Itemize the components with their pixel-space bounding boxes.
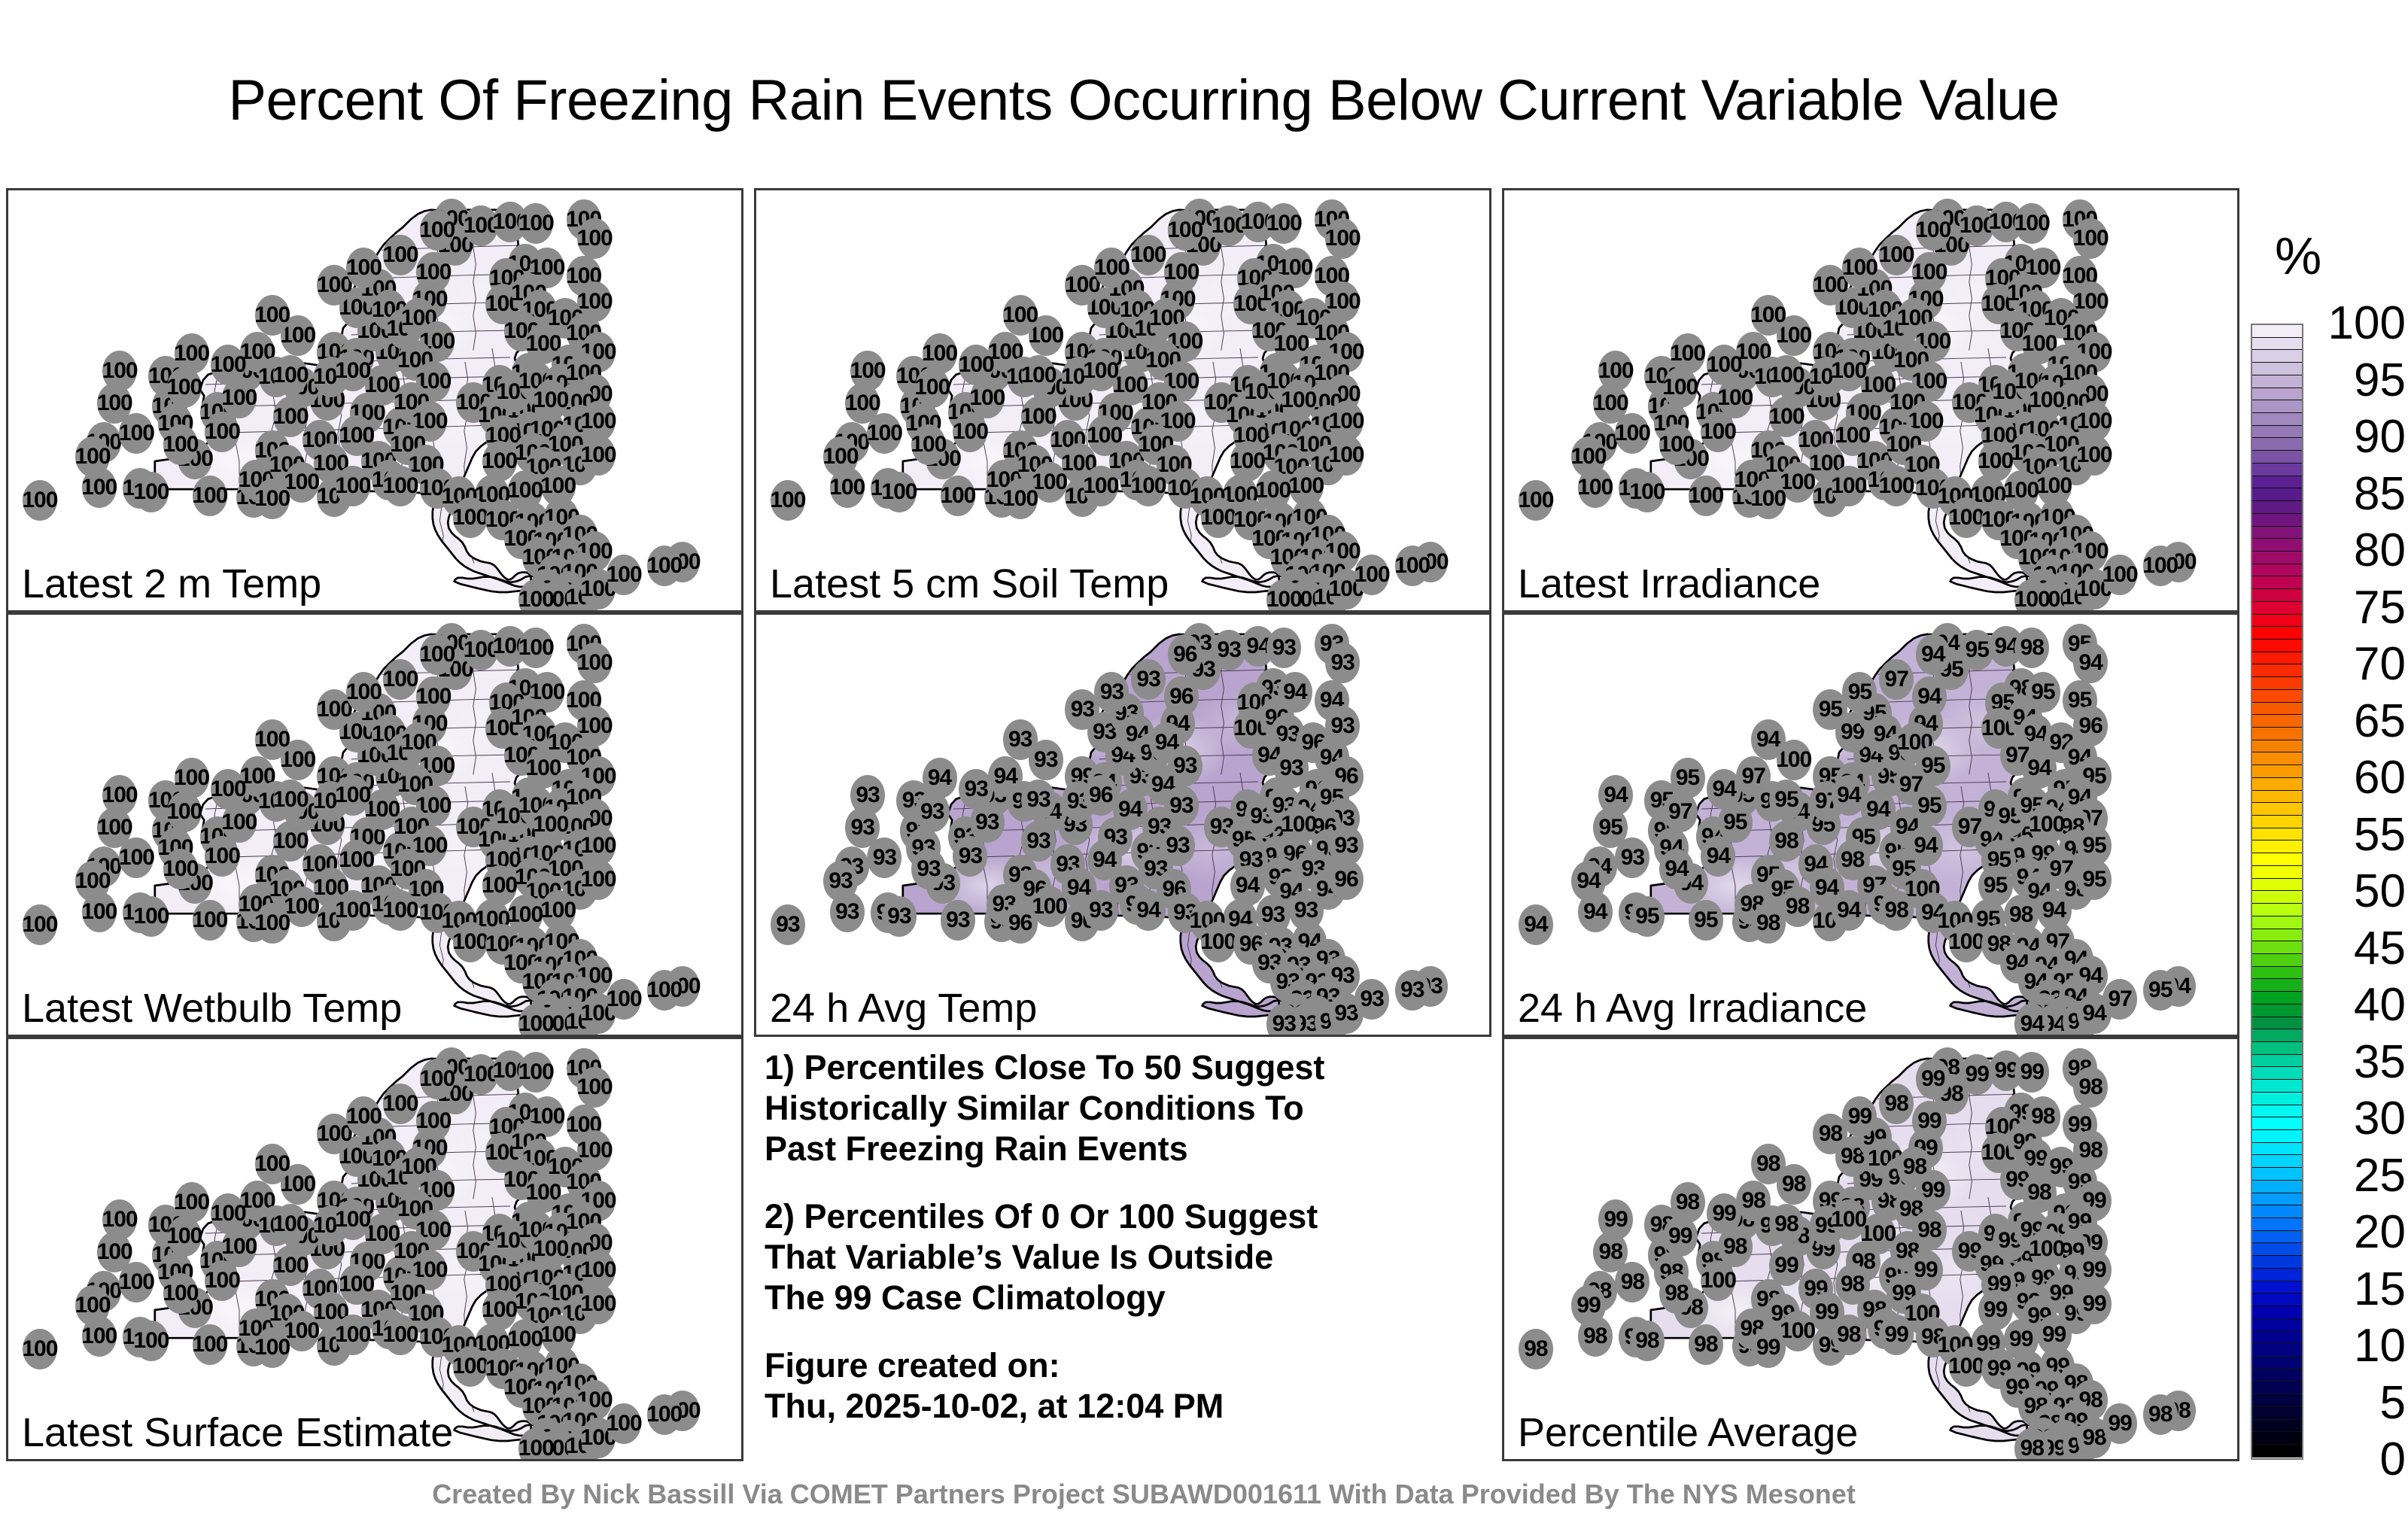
station-value: 98 <box>1723 1234 1747 1260</box>
station-value: 100 <box>383 1322 418 1348</box>
station-value: 95 <box>1635 904 1659 929</box>
station-value: 94 <box>2079 650 2102 676</box>
station-value: 100 <box>518 1059 554 1085</box>
station-value: 100 <box>646 1402 682 1427</box>
station-marker: 100 <box>193 476 227 516</box>
station-value: 93 <box>920 799 944 825</box>
station-marker: 97 <box>1879 659 1914 700</box>
colorbar-swatch <box>2252 627 2302 640</box>
station-marker: 100 <box>346 672 381 713</box>
colorbar-swatch <box>2252 501 2302 514</box>
map-panel-latest-2m-temp[interactable]: 100 100 100 100 100 100 100 100 100 100 … <box>6 188 743 612</box>
station-marker: 100 <box>577 1067 612 1108</box>
station-value: 93 <box>1360 986 1383 1012</box>
station-marker: 98 <box>1879 890 1914 931</box>
station-value: 100 <box>1200 929 1236 955</box>
station-marker: 100 <box>383 890 418 931</box>
station-value: 100 <box>540 898 576 923</box>
station-marker: 100 <box>1949 1346 1984 1387</box>
colorbar-swatch <box>2252 400 2302 413</box>
colorbar-swatch <box>2252 1357 2302 1369</box>
station-marker: 94 <box>1519 904 1553 945</box>
station-value: 100 <box>2077 442 2112 468</box>
station-marker: 93 <box>959 769 993 810</box>
station-marker: 98 <box>1769 1204 1804 1245</box>
colorbar-tick: 100 <box>2309 300 2406 347</box>
station-marker: 100 <box>1879 466 1914 506</box>
station-value: 94 <box>1707 843 1730 869</box>
colorbar-swatch <box>2252 1181 2302 1193</box>
colorbar-swatch <box>2252 527 2302 540</box>
station-value: 93 <box>1026 828 1050 854</box>
station-value: 97 <box>1884 667 1908 692</box>
station-marker: 100 <box>255 479 290 519</box>
station-overlay: 100 100 100 100 100 100 100 100 100 100 … <box>8 615 741 1035</box>
station-marker: 100 <box>1201 922 1236 962</box>
station-marker: 96 <box>1168 634 1202 675</box>
panel-title-latest-2m-temp: Latest 2 m Temp <box>22 564 321 604</box>
station-marker: 100 <box>1571 436 1606 477</box>
station-marker: 100 <box>1630 472 1665 512</box>
station-marker: 93 <box>915 792 950 832</box>
station-value: 98 <box>1841 1272 1864 1297</box>
station-marker: 100 <box>1003 295 1038 336</box>
station-marker: 100 <box>383 1315 418 1355</box>
colorbar-swatch <box>2252 1105 2302 1118</box>
colorbar-swatch <box>2252 715 2302 728</box>
colorbar-swatch <box>2252 426 2302 439</box>
station-marker: 100 <box>1329 435 1364 476</box>
station-marker: 100 <box>911 424 946 465</box>
station-value: 98 <box>2020 1436 2044 1461</box>
station-marker: 100 <box>205 412 239 452</box>
station-value: 100 <box>1230 448 1265 474</box>
colorbar-swatch <box>2252 992 2302 1005</box>
colorbar-swatch <box>2252 640 2302 652</box>
colorbar-swatch <box>2252 1256 2302 1269</box>
station-marker: 100 <box>518 203 553 244</box>
station-marker: 100 <box>205 1260 239 1301</box>
station-value: 93 <box>1334 833 1358 859</box>
colorbar-swatch <box>2252 1155 2302 1168</box>
station-marker: 100 <box>2077 435 2112 476</box>
colorbar-swatch <box>2252 552 2302 564</box>
colorbar-tick: 65 <box>2309 698 2406 745</box>
colorbar-swatch <box>2252 1117 2302 1130</box>
colorbar-swatch <box>2252 891 2302 904</box>
station-value: 100 <box>119 845 154 871</box>
station-marker: 95 <box>1689 900 1723 941</box>
station-value: 98 <box>2009 902 2033 928</box>
colorbar-swatch <box>2252 1055 2302 1068</box>
map-panel-latest-5cm-soil-temp[interactable]: 100 100 100 100 100 100 100 100 100 100 … <box>754 188 1491 612</box>
station-marker: 100 <box>1832 351 1866 391</box>
station-marker: 100 <box>163 849 198 889</box>
colorbar-swatch <box>2252 1205 2302 1218</box>
colorbar-swatch <box>2252 602 2302 615</box>
station-value: 100 <box>940 483 975 509</box>
station-value: 94 <box>1665 856 1688 882</box>
station-value: 100 <box>607 562 642 588</box>
station-marker: 100 <box>23 480 57 521</box>
station-value: 100 <box>1288 473 1324 499</box>
panel-title-latest-surface-estimate: Latest Surface Estimate <box>22 1412 453 1453</box>
station-value: 100 <box>1831 473 1866 499</box>
station-value: 98 <box>2079 1074 2102 1100</box>
station-value: 100 <box>2014 587 2050 612</box>
station-marker: 100 <box>577 218 612 259</box>
station-marker: 100 <box>1354 555 1389 595</box>
station-value: 96 <box>2079 713 2102 739</box>
station-value: 100 <box>1518 488 1553 513</box>
station-value: 93 <box>1272 1011 1296 1037</box>
colorbar-swatch <box>2252 1445 2302 1457</box>
colorbar-tick: 40 <box>2309 982 2406 1029</box>
station-value: 98 <box>1884 1091 1908 1117</box>
station-marker: 100 <box>1949 497 1984 538</box>
station-marker: 100 <box>23 904 57 945</box>
station-marker: 94 <box>1751 719 1786 760</box>
station-marker: 100 <box>1021 355 1056 396</box>
station-marker: 100 <box>923 333 957 374</box>
station-marker: 100 <box>346 1096 381 1137</box>
station-value: 100 <box>133 904 169 929</box>
station-value: 100 <box>1842 255 1877 281</box>
station-marker: 100 <box>102 775 137 816</box>
colorbar-swatch <box>2252 1407 2302 1420</box>
station-marker: 100 <box>134 896 169 937</box>
station-marker: 96 <box>1003 903 1038 944</box>
station-value: 98 <box>1621 1269 1644 1295</box>
colorbar-swatch <box>2252 752 2302 765</box>
station-value: 100 <box>581 1291 616 1317</box>
station-value: 100 <box>254 910 290 936</box>
station-marker: 100 <box>1769 355 1804 396</box>
station-marker: 100 <box>1084 466 1118 506</box>
station-value: 97 <box>2108 986 2131 1012</box>
station-marker: 100 <box>1598 351 1633 391</box>
colorbar-swatch <box>2252 853 2302 866</box>
station-marker: 93 <box>823 861 858 901</box>
station-value: 100 <box>163 432 198 457</box>
station-marker: 94 <box>1707 769 1741 810</box>
station-value: 93 <box>1400 977 1424 1003</box>
station-value: 100 <box>518 635 554 661</box>
station-marker: 99 <box>1751 1327 1786 1368</box>
station-marker: 100 <box>1266 203 1301 244</box>
station-value: 100 <box>174 1190 209 1215</box>
station-marker: 100 <box>211 345 245 385</box>
colorbar-swatch <box>2252 1344 2302 1357</box>
colorbar-swatch <box>2252 325 2302 338</box>
panel-title-24h-avg-irradiance: 24 h Avg Irradiance <box>1518 988 1867 1029</box>
station-value: 99 <box>1921 1066 1944 1092</box>
station-marker: 100 <box>1003 479 1038 519</box>
colorbar-tick-labels: 1009590858075706560555045403530252015105… <box>2309 324 2407 1460</box>
station-marker: 93 <box>1354 979 1389 1020</box>
colorbar-tick: 25 <box>2309 1153 2406 1199</box>
station-value: 100 <box>346 679 382 705</box>
colorbar-tick: 15 <box>2309 1266 2406 1313</box>
station-marker: 100 <box>647 970 682 1011</box>
station-value: 100 <box>1598 358 1634 384</box>
station-value: 100 <box>166 799 202 825</box>
station-marker: 100 <box>882 472 917 512</box>
station-value: 100 <box>174 765 209 791</box>
station-marker: 100 <box>1689 476 1723 516</box>
colorbar-swatch <box>2252 1269 2302 1281</box>
station-value: 100 <box>2073 226 2109 251</box>
station-value: 100 <box>1750 302 1786 328</box>
station-value: 99 <box>1774 1253 1798 1278</box>
station-value: 100 <box>911 432 946 457</box>
station-value: 100 <box>1948 1354 1984 1379</box>
station-marker: 100 <box>420 1059 455 1099</box>
colorbar-swatch <box>2252 350 2302 363</box>
station-marker: 98 <box>1832 1315 1866 1355</box>
station-marker: 100 <box>1916 210 1950 251</box>
station-value: 100 <box>97 391 132 416</box>
station-marker: 93 <box>1084 890 1118 931</box>
colorbar-swatch <box>2252 1332 2302 1345</box>
station-value: 93 <box>1261 902 1285 928</box>
station-value: 100 <box>845 391 880 416</box>
colorbar-swatch <box>2252 388 2302 401</box>
station-marker: 100 <box>420 210 455 251</box>
station-marker: 98 <box>1519 1329 1553 1369</box>
colorbar-swatch <box>2252 1420 2302 1433</box>
station-value: 100 <box>192 907 227 933</box>
station-marker: 99 <box>1663 1216 1698 1257</box>
station-value: 100 <box>166 1223 202 1249</box>
station-value: 94 <box>1837 898 1860 923</box>
station-value: 100 <box>1266 587 1302 612</box>
station-value: 100 <box>383 242 418 268</box>
station-value: 100 <box>1002 302 1038 328</box>
station-value: 100 <box>272 404 308 430</box>
station-value: 95 <box>2148 977 2172 1003</box>
colorbar-swatch <box>2252 615 2302 628</box>
station-marker: 94 <box>1832 775 1866 816</box>
colorbar-swatch <box>2252 476 2302 489</box>
station-value: 94 <box>1236 873 1259 898</box>
station-value: 100 <box>346 1104 382 1129</box>
station-value: 100 <box>577 226 613 251</box>
station-marker: 100 <box>255 295 290 336</box>
station-value: 100 <box>1701 419 1736 445</box>
colorbar-swatch <box>2252 954 2302 967</box>
station-marker: 100 <box>607 1403 641 1444</box>
station-value: 100 <box>133 1328 169 1354</box>
station-value: 93 <box>835 899 859 925</box>
station-value: 93 <box>887 904 911 929</box>
station-marker: 100 <box>336 1199 370 1240</box>
colorbar-swatch <box>2252 438 2302 451</box>
station-value: 94 <box>2082 1001 2105 1026</box>
station-value: 100 <box>822 444 858 470</box>
station-marker: 100 <box>1707 345 1741 385</box>
colorbar-swatch <box>2252 464 2302 476</box>
station-marker: 100 <box>336 1315 370 1355</box>
station-marker: 100 <box>383 466 418 506</box>
station-value: 100 <box>335 898 370 923</box>
station-marker: 93 <box>911 849 946 889</box>
station-value: 96 <box>1089 783 1112 808</box>
station-marker: 93 <box>1094 672 1129 713</box>
station-value: 94 <box>1583 899 1607 925</box>
station-value: 99 <box>2108 1411 2131 1436</box>
station-marker: 93 <box>1395 970 1430 1011</box>
station-value: 99 <box>1576 1293 1600 1318</box>
station-value: 99 <box>1884 1322 1908 1348</box>
station-value: 100 <box>581 867 616 892</box>
station-value: 100 <box>607 1411 642 1436</box>
colorbar-swatch <box>2252 1130 2302 1143</box>
colorbar-swatch <box>2252 1293 2302 1306</box>
colorbar-tick: 50 <box>2309 868 2406 915</box>
station-value: 100 <box>1701 1268 1736 1293</box>
station-value: 93 <box>1272 635 1296 661</box>
station-value: 95 <box>1819 697 1842 722</box>
map-panel-24h-avg-irradiance[interactable]: 94 94 95 94 93 94 95 95 94 95 94 94 97 9… <box>1502 612 2239 1037</box>
station-marker: 100 <box>336 775 370 816</box>
station-value: 95 <box>1723 810 1747 835</box>
station-overlay: 100 100 100 100 100 100 100 100 100 100 … <box>756 190 1489 610</box>
station-marker: 100 <box>211 1193 245 1234</box>
station-value: 100 <box>1354 562 1390 588</box>
station-marker: 94 <box>1701 836 1735 877</box>
station-marker: 100 <box>383 1084 418 1124</box>
colorbar-swatch <box>2252 1369 2302 1382</box>
station-marker: 100 <box>273 780 308 820</box>
station-marker: 100 <box>607 979 641 1020</box>
station-value: 95 <box>1694 907 1717 933</box>
station-value: 100 <box>221 810 257 835</box>
station-marker: 99 <box>2102 1403 2137 1444</box>
station-value: 93 <box>965 777 988 802</box>
colorbar-tick: 55 <box>2309 812 2406 859</box>
station-value: 100 <box>1131 242 1166 268</box>
station-value: 100 <box>2142 553 2178 579</box>
station-marker: 100 <box>1832 466 1866 506</box>
station-value: 93 <box>1621 845 1644 871</box>
station-marker: 93 <box>1021 780 1056 820</box>
colorbar-swatch <box>2252 840 2302 853</box>
station-value: 100 <box>577 1074 613 1100</box>
station-value: 100 <box>22 1336 57 1362</box>
station-marker: 100 <box>255 719 290 760</box>
station-value: 100 <box>211 777 246 802</box>
colorbar-tick: 85 <box>2309 471 2406 518</box>
station-marker: 99 <box>2014 1052 2049 1093</box>
station-value: 93 <box>1071 697 1094 722</box>
station-value: 100 <box>482 1297 517 1323</box>
colorbar-swatch <box>2252 1432 2302 1445</box>
station-marker: 100 <box>1131 235 1166 275</box>
station-marker: 100 <box>420 634 455 675</box>
station-marker: 100 <box>255 1327 290 1368</box>
station-marker: 100 <box>607 555 641 595</box>
station-value: 94 <box>1524 912 1547 938</box>
station-marker: 100 <box>581 435 616 476</box>
station-value: 100 <box>518 1436 554 1461</box>
station-value: 100 <box>1948 505 1984 530</box>
station-value: 100 <box>452 1354 488 1379</box>
station-marker: 100 <box>175 1182 209 1223</box>
colorbar-swatch <box>2252 1381 2302 1394</box>
station-marker: 100 <box>255 1144 290 1184</box>
station-value: 100 <box>166 375 202 400</box>
station-value: 100 <box>2036 473 2072 499</box>
station-value: 100 <box>1659 432 1694 457</box>
colorbar-swatch <box>2252 765 2302 778</box>
colorbar-gradient <box>2251 324 2303 1460</box>
map-panel-24h-avg-temp[interactable]: 93 93 93 93 93 93 93 93 93 93 93 93 93 9… <box>754 612 1491 1037</box>
station-value: 100 <box>102 783 138 808</box>
station-value: 100 <box>211 352 246 378</box>
station-value: 98 <box>1665 1281 1688 1306</box>
map-panel-latest-irradiance[interactable]: 100 100 100 100 100 100 100 100 100 100 … <box>1502 188 2239 612</box>
station-marker: 94 <box>1598 775 1633 816</box>
station-marker: 100 <box>211 769 245 810</box>
station-value: 100 <box>507 1327 543 1352</box>
station-value: 100 <box>174 341 209 366</box>
station-value: 94 <box>1136 898 1160 923</box>
colorbar-swatch <box>2252 929 2302 942</box>
map-panel-percentile-average[interactable]: 98 98 98 98 98 99 98 98 99 98 98 98 99 9… <box>1502 1037 2239 1461</box>
station-value: 95 <box>2082 867 2105 892</box>
station-marker: 100 <box>2073 218 2108 259</box>
station-value: 100 <box>1915 217 1950 243</box>
station-marker: 100 <box>1842 248 1877 288</box>
station-value: 94 <box>1914 833 1937 859</box>
station-marker: 94 <box>923 758 957 798</box>
station-value: 93 <box>851 815 874 840</box>
station-value: 98 <box>1782 1172 1805 1197</box>
station-value: 94 <box>1576 868 1600 894</box>
station-value: 100 <box>1768 404 1804 430</box>
colorbar-swatch <box>2252 703 2302 716</box>
station-value: 99 <box>2082 1291 2105 1317</box>
station-value: 95 <box>1966 637 1989 663</box>
station-marker: 97 <box>2102 979 2137 1020</box>
station-value: 99 <box>2042 1322 2066 1348</box>
station-marker: 100 <box>518 628 553 668</box>
station-value: 100 <box>646 553 682 579</box>
station-value: 100 <box>419 1066 455 1092</box>
station-value: 100 <box>581 409 616 434</box>
colorbar-swatch <box>2252 803 2302 816</box>
station-marker: 100 <box>647 1394 682 1435</box>
station-marker: 100 <box>175 758 209 798</box>
station-value: 100 <box>518 1011 554 1037</box>
station-value: 100 <box>577 650 613 676</box>
map-panel-latest-wetbulb-temp[interactable]: 100 100 100 100 100 100 100 100 100 100 … <box>6 612 743 1037</box>
colorbar-swatch <box>2252 1080 2302 1093</box>
station-marker: 100 <box>850 351 885 391</box>
station-value: 98 <box>1524 1336 1547 1362</box>
station-value: 99 <box>1713 1201 1736 1226</box>
station-value: 98 <box>2079 1138 2102 1163</box>
station-value: 98 <box>1756 910 1780 936</box>
colorbar-swatch <box>2252 488 2302 501</box>
station-marker: 99 <box>1598 1199 1633 1240</box>
station-value: 100 <box>1083 473 1118 499</box>
station-value: 100 <box>383 1091 418 1117</box>
map-panel-latest-surface-estimate[interactable]: 100 100 100 100 100 100 100 100 100 100 … <box>6 1037 743 1461</box>
station-value: 100 <box>335 783 370 808</box>
station-value: 100 <box>1768 363 1804 388</box>
